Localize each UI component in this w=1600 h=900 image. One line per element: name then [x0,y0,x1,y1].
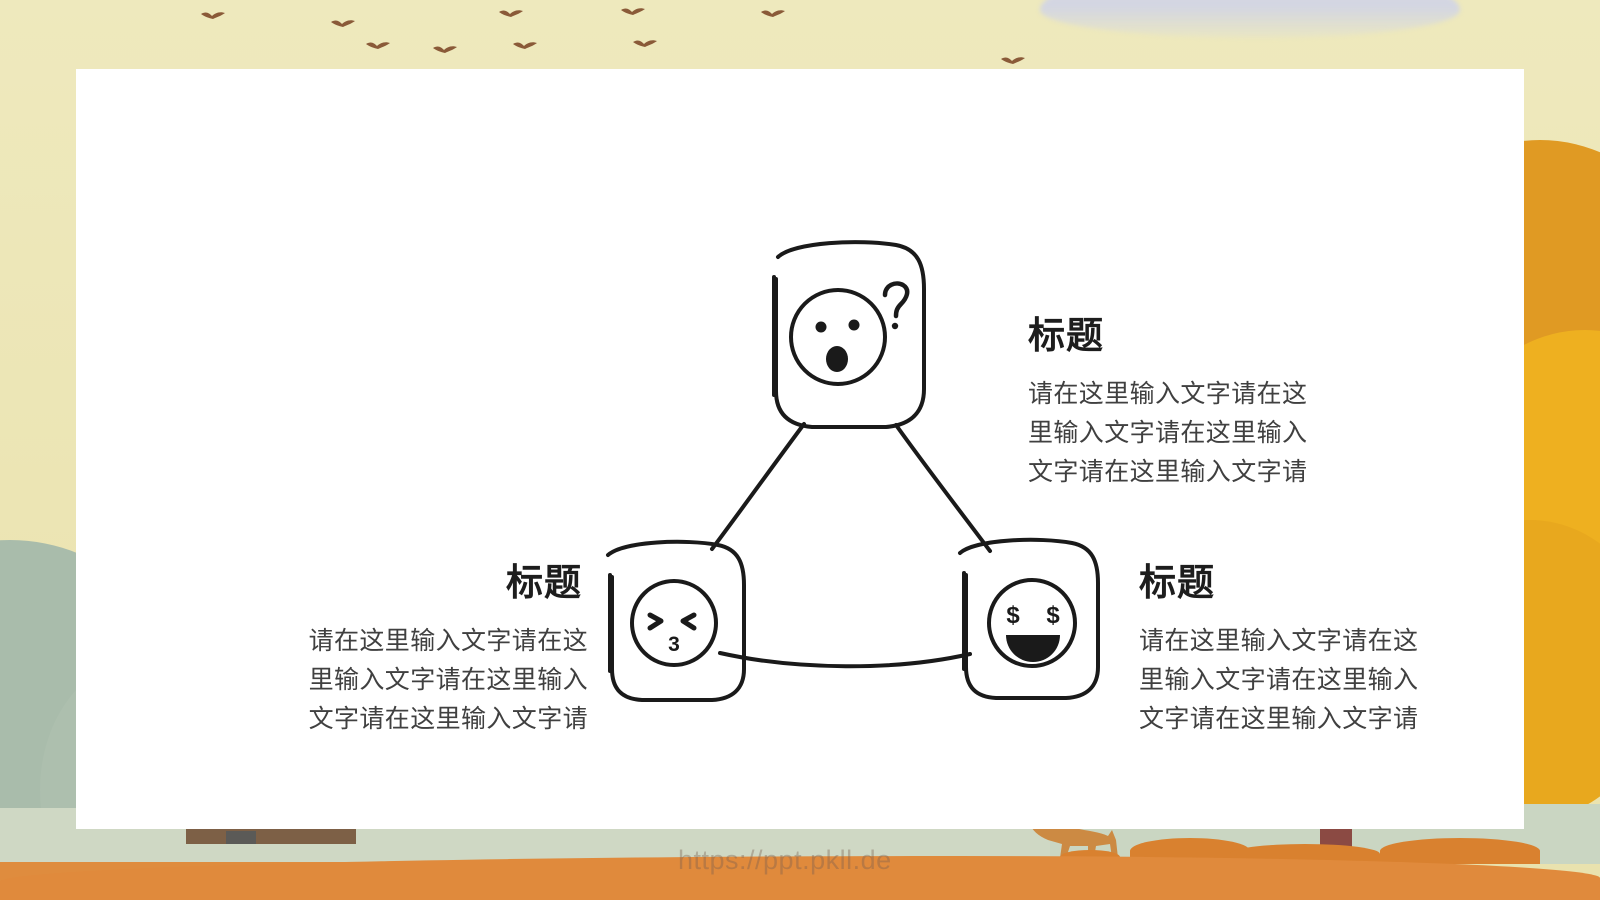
block-body: 请在这里输入文字请在这 里输入文字请在这里输入 文字请在这里输入文字请 [1028,375,1388,492]
bird-icon [498,8,524,21]
node-top [774,242,924,427]
slide-content-card: 3 $ $ 标题 请在这里输入文字请在这 里输入文字请在这里输入 文字请在这里输… [76,69,1524,829]
bird-icon [365,40,391,53]
text-block-top-right: 标题 请在这里输入文字请在这 里输入文字请在这里输入 文字请在这里输入文字请 [1028,317,1388,492]
text-block-bottom-right: 标题 请在这里输入文字请在这 里输入文字请在这里输入 文字请在这里输入文字请 [1139,564,1499,739]
svg-text:$: $ [1046,602,1060,629]
bird-icon [432,44,458,57]
hut-door-shape [226,831,256,844]
block-title: 标题 [1028,317,1388,356]
block-body: 请在这里输入文字请在这 里输入文字请在这里输入 文字请在这里输入文字请 [1139,622,1499,739]
svg-text:3: 3 [668,633,680,656]
bird-icon [760,8,786,21]
bird-icon [330,18,356,31]
connector-top-to-right [896,425,990,551]
bush-shape [1380,838,1540,864]
block-title: 标题 [1139,564,1499,603]
bird-icon [620,6,646,19]
slide-canvas: 3 $ $ 标题 请在这里输入文字请在这 里输入文字请在这里输入 文字请在这里输… [0,0,1600,900]
bird-icon [1000,55,1026,68]
connector-left-to-right [720,653,970,666]
bird-icon [632,38,658,51]
node-bottom-left: 3 [608,542,744,700]
connector-top-to-left [712,424,804,549]
bird-icon [512,40,538,53]
text-block-left: 标题 请在这里输入文字请在这 里输入文字请在这里输入 文字请在这里输入文字请 [226,564,588,739]
svg-text:$: $ [1006,602,1020,629]
bird-icon [200,10,226,23]
block-body: 请在这里输入文字请在这 里输入文字请在这里输入 文字请在这里输入文字请 [226,622,588,739]
node-bottom-right: $ $ [960,540,1098,698]
block-title: 标题 [226,564,588,603]
